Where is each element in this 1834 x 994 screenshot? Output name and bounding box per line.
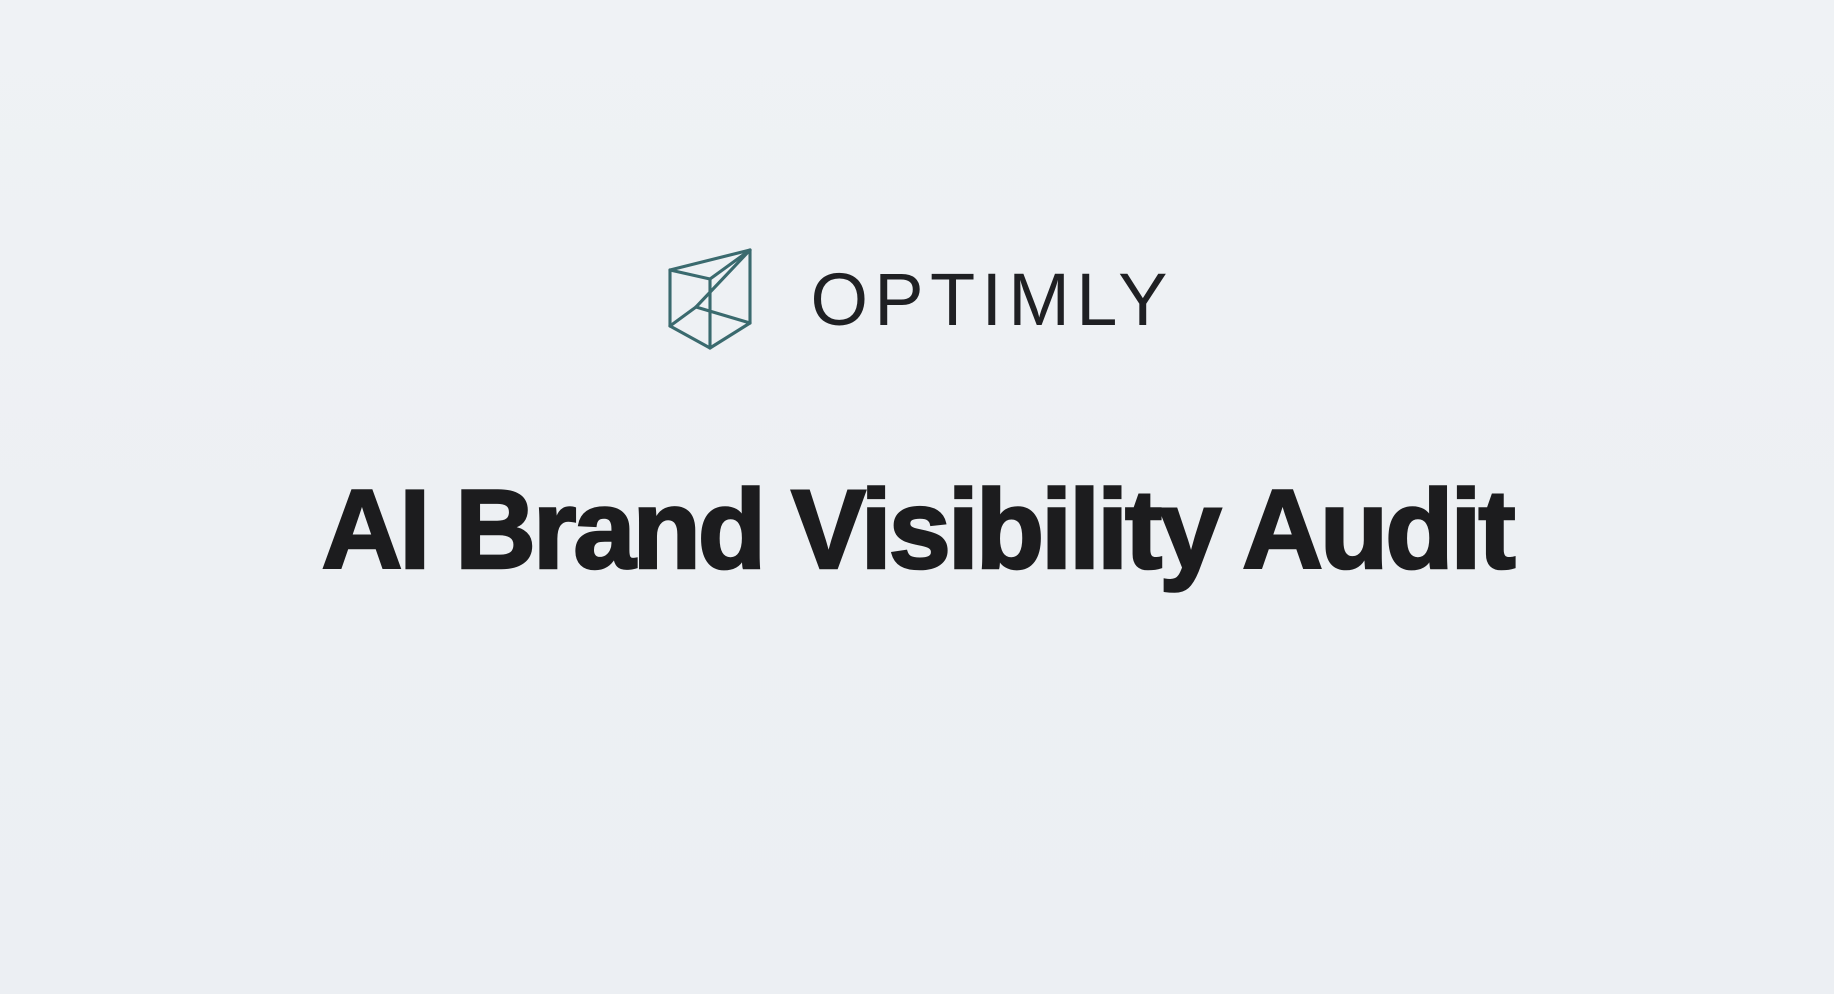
brand-wordmark: OPTIMLY [810, 263, 1173, 337]
page-title: AI Brand Visibility Audit [0, 474, 1834, 586]
title-slide: OPTIMLY AI Brand Visibility Audit [0, 0, 1834, 994]
optimly-prism-logo-icon [666, 247, 754, 351]
brand-lockup: OPTIMLY [0, 247, 1834, 351]
